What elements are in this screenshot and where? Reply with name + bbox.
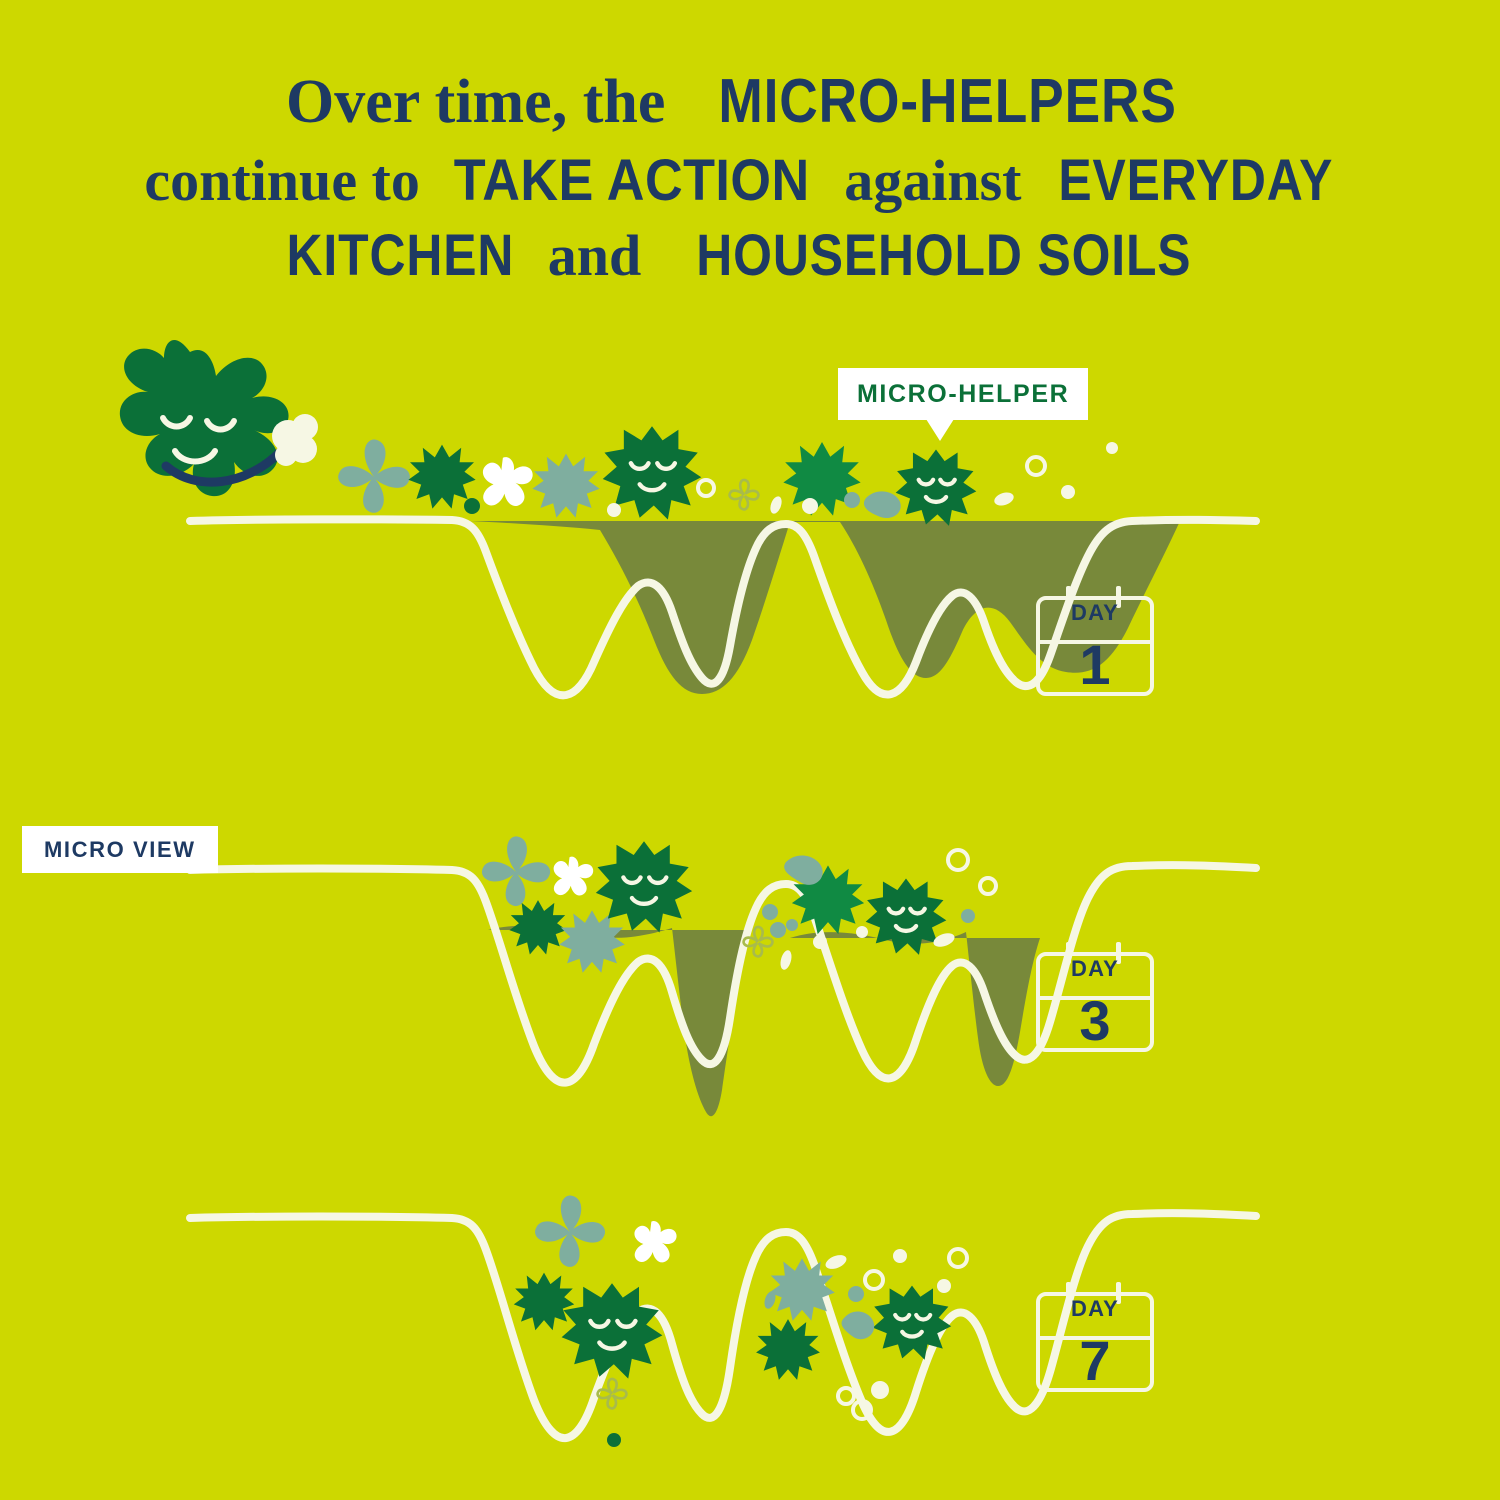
micro-helper-character-icon <box>120 340 318 496</box>
microbe-cluster-day-7 <box>514 1195 967 1447</box>
micro-helper-callout-text: MICRO-HELPER <box>857 380 1069 408</box>
calendar-day-number: 7 <box>1036 1332 1154 1390</box>
headline-emphasis-everyday: EVERYDAY <box>1058 143 1333 218</box>
calendar-day-word: DAY <box>1036 956 1154 982</box>
microbe-cluster-day-3 <box>482 836 996 972</box>
headline-line-2: continue to TAKE ACTION against EVERYDAY <box>0 143 1500 218</box>
microbe-cluster-day-1 <box>338 426 1118 526</box>
calendar-day-number: 1 <box>1036 636 1154 694</box>
headline-line-1: Over time, the MICRO-HELPERS <box>0 62 1500 143</box>
headline-serif-2: continue to <box>144 148 434 213</box>
calendar-day-number: 3 <box>1036 992 1154 1050</box>
headline-line-3: KITCHEN and HOUSEHOLD SOILS <box>0 218 1500 293</box>
calendar-day-3: DAY 3 <box>1036 942 1154 1052</box>
calendar-day-word: DAY <box>1036 1296 1154 1322</box>
headline-serif-4: and <box>533 223 656 288</box>
headline-emphasis-take-action: TAKE ACTION <box>454 143 810 218</box>
calendar-day-7: DAY 7 <box>1036 1282 1154 1392</box>
page-title: Over time, the MICRO-HELPERS continue to… <box>0 62 1500 293</box>
callout-pointer-icon <box>926 419 954 441</box>
calendar-day-1: DAY 1 <box>1036 586 1154 696</box>
headline-emphasis-micro-helpers: MICRO-HELPERS <box>718 62 1177 143</box>
infographic-canvas: Over time, the MICRO-HELPERS continue to… <box>0 0 1500 1500</box>
headline-emphasis-kitchen: KITCHEN <box>287 218 515 293</box>
soil-mass-day-3-right <box>790 932 1040 1086</box>
cleaning-foam-icon <box>272 414 318 466</box>
micro-view-text: MICRO VIEW <box>44 837 196 862</box>
micro-view-label: MICRO VIEW <box>22 826 218 873</box>
micro-helper-callout-label: MICRO-HELPER <box>838 368 1088 420</box>
headline-serif-3: against <box>830 148 1036 213</box>
headline-emphasis-household-soils: HOUSEHOLD SOILS <box>696 218 1191 293</box>
calendar-day-word: DAY <box>1036 600 1154 626</box>
headline-serif-1: Over time, the <box>286 68 681 136</box>
soil-mass-day-3-left <box>488 926 748 1117</box>
